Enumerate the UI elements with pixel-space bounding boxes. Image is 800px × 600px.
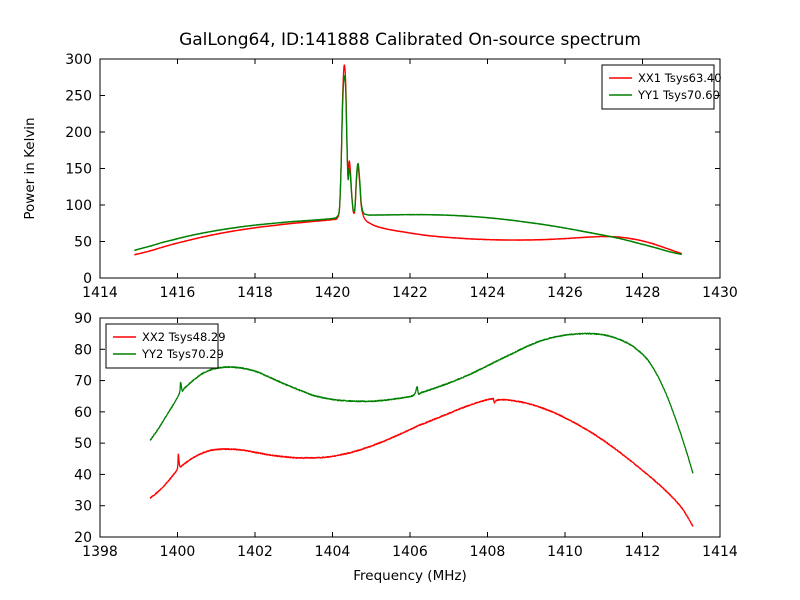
xtick-label-bottom-8: 1414 (702, 544, 738, 560)
trace-xx2 (150, 398, 693, 526)
xlabel-bottom: Frequency (MHz) (353, 568, 466, 584)
ytick-label-bottom-5: 70 (74, 374, 92, 390)
legend-label-bottom-0: XX2 Tsys48.29 (142, 330, 226, 344)
ylabel-top: Power in Kelvin (22, 117, 38, 219)
xtick-label-top-8: 1430 (702, 285, 738, 301)
xtick-label-top-0: 1414 (82, 285, 118, 301)
figure-canvas: 1414141614181420142214241426142814300501… (0, 0, 800, 600)
ytick-label-top-0: 0 (83, 271, 92, 287)
ytick-label-bottom-0: 20 (74, 530, 92, 546)
ytick-label-bottom-6: 80 (74, 342, 92, 358)
legend-bottom: XX2 Tsys48.29YY2 Tsys70.29 (106, 324, 226, 368)
xtick-label-top-1: 1416 (160, 285, 196, 301)
spectrum-figure: 1414141614181420142214241426142814300501… (0, 0, 800, 600)
xtick-label-top-5: 1424 (470, 285, 506, 301)
ytick-label-top-6: 300 (65, 52, 92, 68)
ytick-label-top-3: 150 (65, 162, 92, 178)
trace-yy1 (135, 76, 681, 254)
axes-bottom: 1398140014021404140614081410141214142030… (74, 311, 738, 584)
xtick-label-bottom-6: 1410 (547, 544, 583, 560)
ytick-label-bottom-3: 50 (74, 436, 92, 452)
ytick-label-bottom-2: 40 (74, 467, 92, 483)
xtick-label-top-7: 1428 (625, 285, 661, 301)
traces-bottom (150, 333, 693, 526)
plot-title: GalLong64, ID:141888 Calibrated On-sourc… (179, 30, 641, 50)
xtick-label-bottom-2: 1402 (237, 544, 273, 560)
ytick-label-bottom-1: 30 (74, 499, 92, 515)
legend-label-top-1: YY1 Tsys70.60 (637, 88, 720, 102)
axes-top: 1414141614181420142214241426142814300501… (22, 30, 738, 301)
xtick-label-top-2: 1418 (237, 285, 273, 301)
xtick-label-bottom-4: 1406 (392, 544, 428, 560)
xtick-label-top-3: 1420 (315, 285, 351, 301)
xtick-label-bottom-7: 1412 (625, 544, 661, 560)
traces-top (135, 65, 681, 255)
xtick-label-bottom-3: 1404 (315, 544, 351, 560)
trace-yy2 (150, 333, 693, 473)
xtick-label-bottom-5: 1408 (470, 544, 506, 560)
legend-label-top-0: XX1 Tsys63.40 (638, 71, 722, 85)
xtick-label-bottom-1: 1400 (160, 544, 196, 560)
ytick-label-top-4: 200 (65, 125, 92, 141)
ytick-label-bottom-4: 60 (74, 405, 92, 421)
xtick-label-top-6: 1426 (547, 285, 583, 301)
ytick-label-top-1: 50 (74, 235, 92, 251)
ytick-label-top-2: 100 (65, 198, 92, 214)
legend-top: XX1 Tsys63.40YY1 Tsys70.60 (602, 65, 722, 109)
ytick-label-top-5: 250 (65, 89, 92, 105)
ytick-label-bottom-7: 90 (74, 311, 92, 327)
legend-label-bottom-1: YY2 Tsys70.29 (141, 347, 224, 361)
trace-xx1 (135, 65, 681, 255)
xtick-label-top-4: 1422 (392, 285, 428, 301)
xtick-label-bottom-0: 1398 (82, 544, 118, 560)
